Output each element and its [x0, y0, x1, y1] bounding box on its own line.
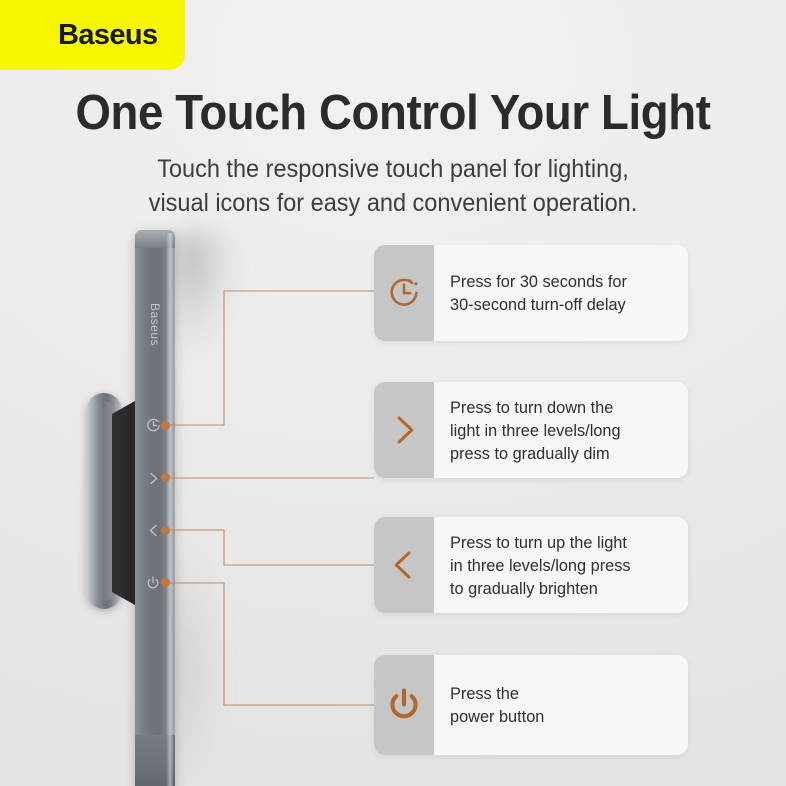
- page-subtitle-line-1: Touch the responsive touch panel for lig…: [24, 152, 763, 186]
- lamp-chevron-left-icon[interactable]: [143, 520, 163, 540]
- timer-icon: [386, 275, 422, 311]
- brand-badge: Baseus: [0, 0, 185, 70]
- callout-card-brighten-up[interactable]: Press to turn up the light in three leve…: [374, 517, 688, 613]
- lamp-timer-icon[interactable]: [143, 415, 163, 435]
- anchor-dot-timer: [161, 421, 170, 430]
- callout-text-line-1: Press the: [450, 684, 519, 703]
- lamp-power-icon[interactable]: [143, 573, 163, 593]
- chevron-right-icon: [387, 413, 421, 447]
- callout-text-pane: Press to turn up the light in three leve…: [434, 517, 688, 613]
- callout-icon-pane: [374, 245, 434, 341]
- callout-icon-pane: [374, 382, 434, 478]
- callout-icon-pane: [374, 655, 434, 755]
- callout-text: Press to turn up the light in three leve…: [450, 531, 631, 600]
- callout-text-line-2: power button: [450, 707, 544, 726]
- product-infographic: Baseus One Touch Control Your Light Touc…: [0, 0, 786, 786]
- callout-text-line-1: Press to turn up the light: [450, 533, 627, 552]
- lamp-mounting-clip-inner: [94, 401, 114, 601]
- callout-text-line-2: light in three levels/long: [450, 421, 621, 440]
- callout-card-power[interactable]: Press the power button: [374, 655, 688, 755]
- callout-text-line-2: 30-second turn-off delay: [450, 295, 626, 314]
- anchor-dot-power: [161, 578, 170, 587]
- product-image: Baseus: [0, 215, 360, 786]
- callout-text: Press the power button: [450, 682, 544, 728]
- callout-text-line-1: Press for 30 seconds for: [450, 272, 627, 291]
- brand-logo-text: Baseus: [58, 19, 158, 52]
- callout-card-dim-down[interactable]: Press to turn down the light in three le…: [374, 382, 688, 478]
- callout-icon-pane: [374, 517, 434, 613]
- callout-text: Press to turn down the light in three le…: [450, 396, 621, 465]
- callout-text-pane: Press the power button: [434, 655, 688, 755]
- callout-text-line-1: Press to turn down the: [450, 398, 613, 417]
- callout-text-line-3: to gradually brighten: [450, 579, 598, 598]
- lamp-engraved-brand: Baseus: [134, 285, 176, 365]
- power-icon: [385, 686, 423, 724]
- page-subtitle: Touch the responsive touch panel for lig…: [24, 152, 763, 220]
- callout-text-line-2: in three levels/long press: [450, 556, 631, 575]
- lamp-chevron-right-icon[interactable]: [143, 468, 163, 488]
- anchor-dot-dim-down: [161, 473, 170, 482]
- callout-card-timer-delay[interactable]: Press for 30 seconds for 30-second turn-…: [374, 245, 688, 341]
- chevron-left-icon: [387, 548, 421, 582]
- lamp-lower-shadow: [168, 515, 264, 786]
- callout-text-pane: Press for 30 seconds for 30-second turn-…: [434, 245, 688, 341]
- callout-text: Press for 30 seconds for 30-second turn-…: [450, 270, 627, 316]
- callout-text-pane: Press to turn down the light in three le…: [434, 382, 688, 478]
- lamp-drop-shadow: [176, 231, 296, 471]
- callout-text-line-3: press to gradually dim: [450, 444, 610, 463]
- anchor-dot-brighten-up: [161, 526, 170, 535]
- page-title: One Touch Control Your Light: [28, 84, 759, 142]
